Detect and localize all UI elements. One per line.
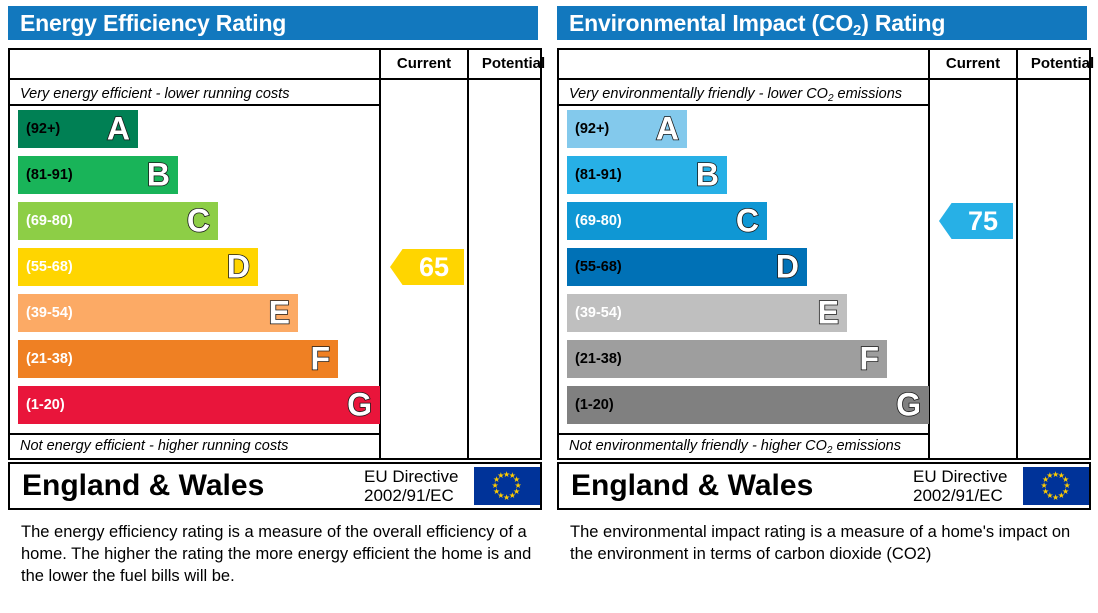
caption-top: Very environmentally friendly - lower CO… bbox=[569, 86, 902, 102]
caption-bottom-pre: Not environmentally friendly - higher CO bbox=[569, 438, 827, 454]
energy-efficiency-title: Energy Efficiency Rating bbox=[8, 6, 538, 40]
band-bar-b: (81-91)B bbox=[18, 156, 178, 194]
current-rating-arrow: 65 bbox=[390, 249, 464, 285]
header-current: Current bbox=[381, 50, 467, 78]
caption-top-rule bbox=[10, 104, 379, 106]
footer-region: England & Wales bbox=[571, 469, 813, 503]
footer-directive-line2: 2002/91/EC bbox=[364, 486, 458, 505]
band-range-c: (69-80) bbox=[575, 213, 622, 229]
caption-top-rule bbox=[559, 104, 928, 106]
band-range-c: (69-80) bbox=[26, 213, 73, 229]
band-range-b: (81-91) bbox=[26, 167, 73, 183]
footer-directive: EU Directive 2002/91/EC bbox=[364, 467, 458, 505]
band-range-a: (92+) bbox=[575, 121, 609, 137]
band-bar-c: (69-80)C bbox=[18, 202, 218, 240]
band-range-d: (55-68) bbox=[26, 259, 73, 275]
band-letter-a: A bbox=[656, 112, 679, 144]
header-current: Current bbox=[930, 50, 1016, 78]
band-range-a: (92+) bbox=[26, 121, 60, 137]
eu-star-icon: ★ bbox=[1046, 472, 1053, 480]
column-divider-2 bbox=[467, 50, 469, 458]
eu-star-icon: ★ bbox=[497, 472, 504, 480]
band-letter-e: E bbox=[818, 296, 839, 328]
energy-efficiency-panel: Energy Efficiency Rating Current Potenti… bbox=[4, 0, 544, 613]
band-range-g: (1-20) bbox=[575, 397, 614, 413]
band-letter-e: E bbox=[269, 296, 290, 328]
footer-directive-line2: 2002/91/EC bbox=[913, 486, 1007, 505]
footer-directive: EU Directive 2002/91/EC bbox=[913, 467, 1007, 505]
caption-bottom: Not environmentally friendly - higher CO… bbox=[569, 438, 901, 454]
eu-flag-icon: ★★★★★★★★★★★★ bbox=[474, 467, 540, 505]
footer-directive-line1: EU Directive bbox=[364, 467, 458, 486]
caption-bottom-sub: 2 bbox=[827, 445, 833, 456]
environmental-impact-title-sub: 2 bbox=[853, 22, 861, 39]
band-range-b: (81-91) bbox=[575, 167, 622, 183]
band-letter-b: B bbox=[147, 158, 170, 190]
column-divider-2 bbox=[1016, 50, 1018, 458]
header-potential: Potential bbox=[1018, 50, 1098, 78]
caption-bottom-rule bbox=[559, 433, 928, 435]
band-letter-f: F bbox=[310, 342, 330, 374]
band-range-e: (39-54) bbox=[26, 305, 73, 321]
energy-efficiency-description: The energy efficiency rating is a measur… bbox=[21, 521, 541, 587]
band-bar-g: (1-20)G bbox=[567, 386, 929, 424]
environmental-impact-header-row: Current Potential bbox=[559, 50, 1089, 80]
environmental-impact-title-pre: Environmental Impact (CO bbox=[569, 10, 853, 36]
band-bar-e: (39-54)E bbox=[18, 294, 298, 332]
band-letter-b: B bbox=[696, 158, 719, 190]
environmental-impact-title-post: ) Rating bbox=[861, 10, 945, 36]
environmental-impact-description: The environmental impact rating is a mea… bbox=[570, 521, 1090, 565]
band-bar-d: (55-68)D bbox=[18, 248, 258, 286]
footer-directive-line1: EU Directive bbox=[913, 467, 1007, 486]
band-range-f: (21-38) bbox=[575, 351, 622, 367]
band-bar-d: (55-68)D bbox=[567, 248, 807, 286]
band-bar-e: (39-54)E bbox=[567, 294, 847, 332]
band-letter-g: G bbox=[896, 388, 921, 420]
caption-bottom-rule bbox=[10, 433, 379, 435]
band-letter-d: D bbox=[227, 250, 250, 282]
environmental-impact-table: Current Potential Very environmentally f… bbox=[557, 48, 1091, 460]
energy-efficiency-header-row: Current Potential bbox=[10, 50, 540, 80]
header-potential: Potential bbox=[469, 50, 558, 78]
band-range-d: (55-68) bbox=[575, 259, 622, 275]
band-range-f: (21-38) bbox=[26, 351, 73, 367]
band-letter-c: C bbox=[736, 204, 759, 236]
caption-top: Very energy efficient - lower running co… bbox=[20, 86, 289, 102]
energy-efficiency-title-text: Energy Efficiency Rating bbox=[20, 10, 286, 36]
energy-efficiency-footer: England & Wales EU Directive 2002/91/EC … bbox=[8, 462, 542, 510]
band-letter-c: C bbox=[187, 204, 210, 236]
environmental-impact-panel: Environmental Impact (CO2) Rating Curren… bbox=[553, 0, 1093, 613]
band-letter-a: A bbox=[107, 112, 130, 144]
band-bar-a: (92+)A bbox=[567, 110, 687, 148]
band-range-e: (39-54) bbox=[575, 305, 622, 321]
band-bar-c: (69-80)C bbox=[567, 202, 767, 240]
caption-bottom: Not energy efficient - higher running co… bbox=[20, 438, 288, 454]
caption-top-post: emissions bbox=[834, 86, 903, 102]
band-letter-f: F bbox=[859, 342, 879, 374]
band-range-g: (1-20) bbox=[26, 397, 65, 413]
band-bar-f: (21-38)F bbox=[18, 340, 338, 378]
band-letter-g: G bbox=[347, 388, 372, 420]
band-letter-d: D bbox=[776, 250, 799, 282]
band-bar-b: (81-91)B bbox=[567, 156, 727, 194]
environmental-impact-footer: England & Wales EU Directive 2002/91/EC … bbox=[557, 462, 1091, 510]
footer-region: England & Wales bbox=[22, 469, 264, 503]
eu-flag-icon: ★★★★★★★★★★★★ bbox=[1023, 467, 1089, 505]
band-bar-a: (92+)A bbox=[18, 110, 138, 148]
caption-bottom-post: emissions bbox=[832, 438, 901, 454]
caption-top-pre: Very environmentally friendly - lower CO bbox=[569, 86, 828, 102]
current-rating-arrow: 75 bbox=[939, 203, 1013, 239]
caption-top-sub: 2 bbox=[828, 93, 834, 104]
epc-chart-page: Energy Efficiency Rating Current Potenti… bbox=[0, 0, 1098, 613]
environmental-impact-title: Environmental Impact (CO2) Rating bbox=[557, 6, 1087, 40]
band-bar-g: (1-20)G bbox=[18, 386, 380, 424]
band-bar-f: (21-38)F bbox=[567, 340, 887, 378]
energy-efficiency-table: Current Potential Very energy efficient … bbox=[8, 48, 542, 460]
